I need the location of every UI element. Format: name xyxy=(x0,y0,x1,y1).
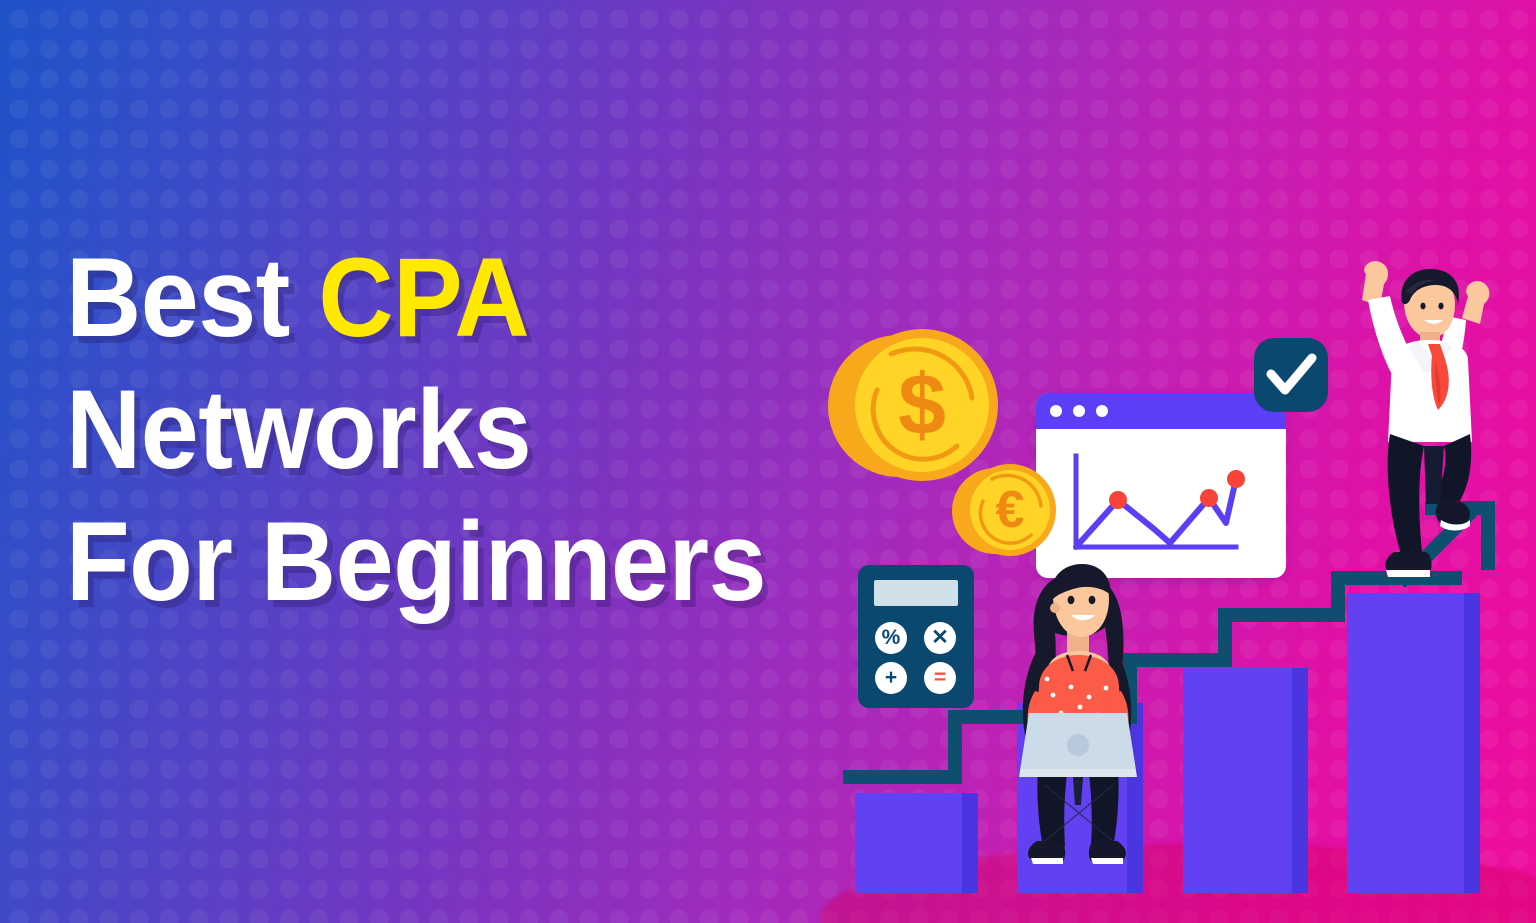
browser-title-bar xyxy=(1036,393,1286,429)
euro-glyph: € xyxy=(970,470,1050,550)
man-celebrating xyxy=(1340,252,1510,622)
banner-canvas: Best CPA Networks For Beginners % ✕ + = xyxy=(0,0,1536,923)
chart-trend-line xyxy=(1076,479,1236,547)
chart-point-3 xyxy=(1227,470,1245,488)
calculator[interactable]: % ✕ + = xyxy=(858,565,974,708)
hero-illustration: % ✕ + = xyxy=(0,0,1536,923)
dollar-glyph: $ xyxy=(855,338,989,472)
calculator-screen xyxy=(874,580,958,606)
equals-key[interactable]: = xyxy=(924,662,956,694)
multiply-key[interactable]: ✕ xyxy=(924,622,956,654)
browser-dot-green[interactable] xyxy=(1096,405,1108,417)
check-icon xyxy=(1254,338,1328,412)
percent-key[interactable]: % xyxy=(875,622,907,654)
browser-dot-yellow[interactable] xyxy=(1073,405,1085,417)
euro-coin-face: € xyxy=(970,470,1050,550)
chart-point-2 xyxy=(1200,489,1218,507)
euro-coin: € xyxy=(952,462,1056,566)
browser-window[interactable] xyxy=(1036,393,1286,578)
plus-key[interactable]: + xyxy=(875,662,907,694)
browser-dot-red[interactable] xyxy=(1050,405,1062,417)
woman-with-laptop xyxy=(985,555,1170,875)
chart-point-1 xyxy=(1109,491,1127,509)
verified-check-badge xyxy=(1254,338,1328,412)
growth-staircase-arrow xyxy=(0,0,1536,923)
dollar-coin-face: $ xyxy=(855,338,989,472)
